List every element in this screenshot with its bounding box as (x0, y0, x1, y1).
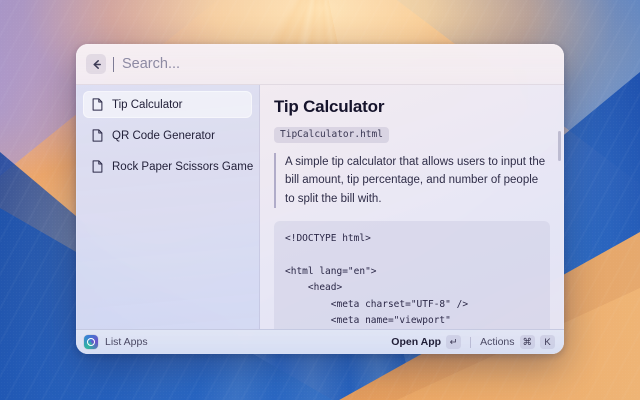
desktop-wallpaper: Tip Calculator QR Code Generator Rock Pa… (0, 0, 640, 400)
sidebar-app-list: Tip Calculator QR Code Generator Rock Pa… (76, 85, 260, 329)
open-app-button[interactable]: Open App ↵ (391, 335, 461, 349)
app-description: A simple tip calculator that allows user… (274, 153, 550, 209)
footer-app-name: List Apps (105, 336, 148, 348)
document-icon (91, 98, 104, 111)
scrollbar-thumb[interactable] (558, 131, 561, 161)
page-title: Tip Calculator (274, 97, 550, 117)
actions-button[interactable]: Actions ⌘ K (480, 335, 555, 349)
sidebar-item-tip-calculator[interactable]: Tip Calculator (83, 91, 252, 118)
sidebar-item-label: QR Code Generator (112, 130, 215, 142)
footer-toolbar: List Apps Open App ↵ Actions ⌘ K (76, 329, 564, 354)
search-input[interactable] (122, 56, 552, 72)
open-app-label: Open App (391, 336, 441, 348)
footer-divider (470, 337, 471, 348)
sidebar-item-rock-paper-scissors-game[interactable]: Rock Paper Scissors Game (83, 153, 252, 180)
back-arrow-icon[interactable] (86, 54, 106, 74)
filename-badge: TipCalculator.html (274, 127, 389, 143)
search-bar (76, 44, 564, 85)
sidebar-item-qr-code-generator[interactable]: QR Code Generator (83, 122, 252, 149)
list-apps-icon (84, 335, 98, 349)
document-icon (91, 129, 104, 142)
k-key-icon[interactable]: K (540, 335, 555, 349)
text-cursor (113, 57, 114, 72)
window-body: Tip Calculator QR Code Generator Rock Pa… (76, 85, 564, 329)
icon-ring (87, 338, 95, 346)
sidebar-item-label: Rock Paper Scissors Game (112, 161, 253, 173)
app-launcher-window: Tip Calculator QR Code Generator Rock Pa… (76, 44, 564, 354)
document-icon (91, 160, 104, 173)
code-preview[interactable]: <!DOCTYPE html> <html lang="en"> <head> … (274, 221, 550, 329)
actions-label: Actions (480, 336, 514, 348)
return-key-icon[interactable]: ↵ (446, 335, 461, 349)
command-key-icon[interactable]: ⌘ (520, 335, 536, 349)
detail-panel: Tip Calculator TipCalculator.html A simp… (260, 85, 564, 329)
sidebar-item-label: Tip Calculator (112, 99, 183, 111)
